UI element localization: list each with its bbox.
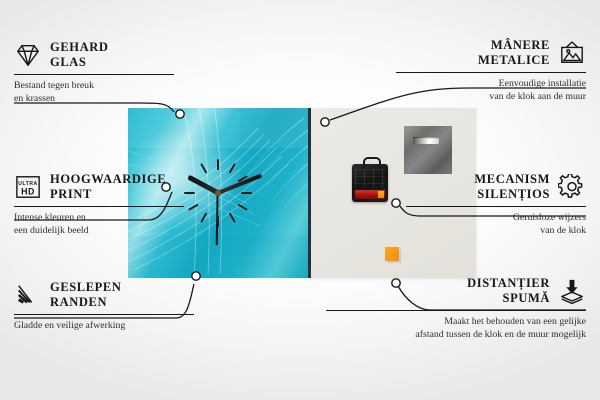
feature-title: DISTANȚIER SPUMĂ — [467, 276, 550, 306]
feature-high-quality-print: ultra HD HOOGWAARDIGE PRINT Intense kleu… — [14, 172, 184, 237]
feature-title: MECANISM SILENȚIOS — [474, 172, 550, 202]
feature-title: MÂNERE METALICE — [478, 38, 550, 68]
feature-title: HOOGWAARDIGE PRINT — [50, 172, 166, 202]
svg-text:HD: HD — [21, 186, 35, 196]
beveled-edges-icon — [14, 282, 42, 308]
gear-icon — [558, 174, 586, 200]
feature-subtitle: Geruisloze wijzers van de klok — [406, 212, 586, 237]
divider — [14, 74, 174, 75]
feature-foam-spacer: DISTANȚIER SPUMĂ Maakt het behouden van … — [326, 276, 586, 341]
divider — [406, 206, 586, 207]
picture-hanger-icon — [558, 40, 586, 66]
battery — [355, 190, 385, 199]
hanger-slot — [413, 137, 439, 144]
feature-title: GESLEPEN RANDEN — [50, 280, 122, 310]
feature-metal-hangers: MÂNERE METALICE Eenvoudige installatie v… — [396, 38, 586, 103]
movement-hanging-loop — [363, 157, 381, 169]
feature-tempered-glass: GEHARD GLAS Bestand tegen breuk en krass… — [14, 40, 174, 105]
feature-title-row: MECANISM SILENȚIOS — [406, 172, 586, 202]
feature-subtitle: Bestand tegen breuk en krassen — [14, 80, 174, 105]
feature-title: GEHARD GLAS — [50, 40, 108, 70]
quartz-movement — [352, 164, 388, 202]
divider — [14, 206, 184, 207]
feature-title-row: MÂNERE METALICE — [396, 38, 586, 68]
feature-title-row: DISTANȚIER SPUMĂ — [326, 276, 586, 306]
product-infographic: GEHARD GLAS Bestand tegen breuk en krass… — [0, 0, 600, 400]
divider — [14, 314, 194, 315]
diamond-icon — [14, 42, 42, 68]
divider — [326, 310, 586, 311]
feature-silent-mechanism: MECANISM SILENȚIOS Geruisloze wijzers va… — [406, 172, 586, 237]
feature-title-row: ultra HD HOOGWAARDIGE PRINT — [14, 172, 184, 202]
ultra-hd-icon: ultra HD — [14, 174, 42, 200]
orange-foam-spacer — [385, 247, 399, 261]
feature-subtitle: Maakt het behouden van een gelijke afsta… — [326, 316, 586, 341]
feature-title-row: GESLEPEN RANDEN — [14, 280, 194, 310]
divider — [396, 72, 586, 73]
feature-title-row: GEHARD GLAS — [14, 40, 174, 70]
spacer-stack-icon — [558, 278, 586, 304]
metal-hanger-plate — [404, 126, 452, 174]
hands-center-cap — [215, 190, 221, 196]
feature-beveled-edges: GESLEPEN RANDEN Gladde en veilige afwerk… — [14, 280, 194, 333]
feature-subtitle: Gladde en veilige afwerking — [14, 320, 194, 332]
feature-subtitle: Intense kleuren en een duidelijk beeld — [14, 212, 184, 237]
feature-subtitle: Eenvoudige installatie van de klok aan d… — [396, 78, 586, 103]
movement-housing-grid — [355, 169, 385, 187]
